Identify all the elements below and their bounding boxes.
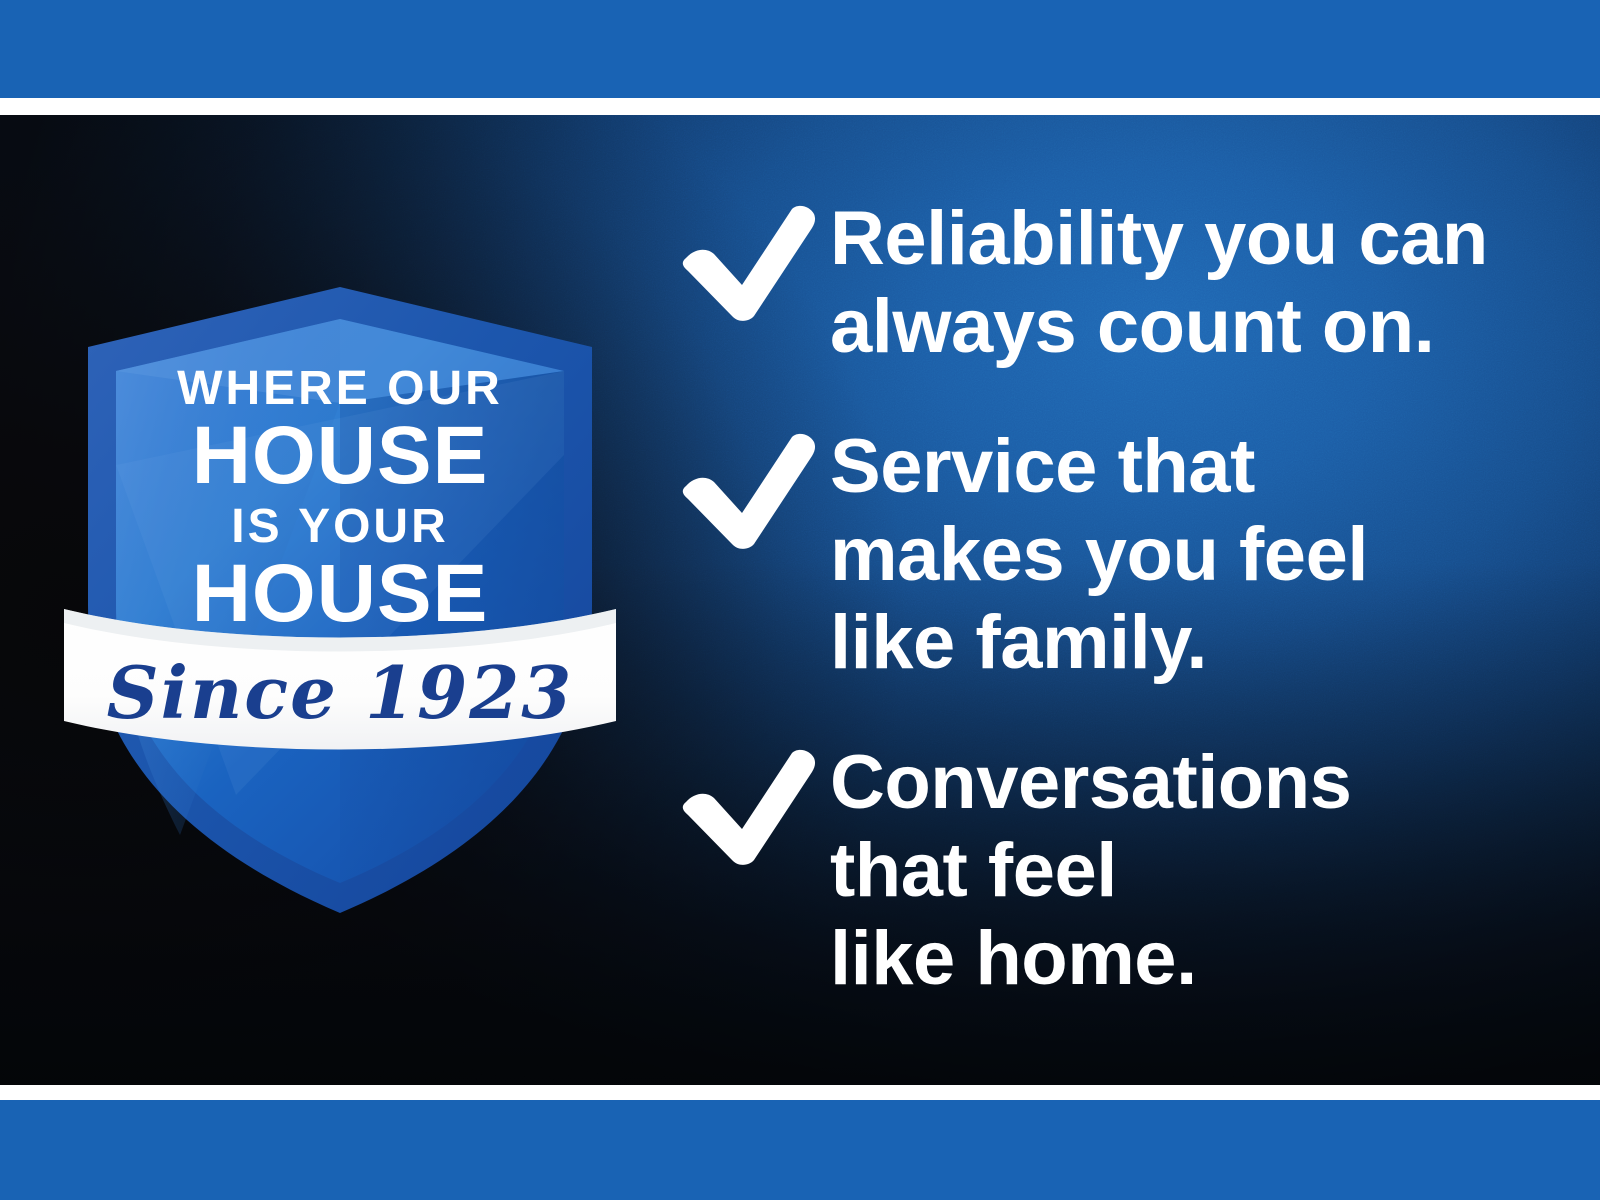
benefits-list: Reliability you can always count on. Ser… [668,195,1528,1003]
shield-badge: WHERE OUR HOUSE IS YOUR HOUSE Since 1923 [60,275,620,925]
list-item: Conversations that feel like home. [668,739,1528,1003]
list-item-line: like family. [830,599,1528,687]
list-item-text: Reliability you can always count on. [830,195,1528,371]
badge-line-2: HOUSE [60,415,620,497]
list-item-line: makes you feel [830,511,1528,599]
list-item-line: like home. [830,915,1528,1003]
list-item-line: that feel [830,827,1528,915]
check-icon [668,203,818,321]
list-item-line: Conversations [830,739,1528,827]
bottom-brand-bar [0,1100,1600,1200]
list-item-line: Service that [830,423,1528,511]
badge-line-3: IS YOUR [60,503,620,551]
list-item-text: Conversations that feel like home. [830,739,1528,1003]
list-item-text: Service that makes you feel like family. [830,423,1528,687]
top-brand-bar [0,0,1600,98]
promo-graphic: WHERE OUR HOUSE IS YOUR HOUSE Since 1923… [0,0,1600,1200]
check-icon [668,747,818,865]
check-icon [668,431,818,549]
list-item-line: always count on. [830,283,1528,371]
badge-line-4: HOUSE [60,553,620,635]
list-item: Service that makes you feel like family. [668,423,1528,687]
list-item-line: Reliability you can [830,195,1528,283]
badge-since-script: Since 1923 [60,657,620,729]
list-item: Reliability you can always count on. [668,195,1528,371]
badge-line-1: WHERE OUR [60,365,620,413]
